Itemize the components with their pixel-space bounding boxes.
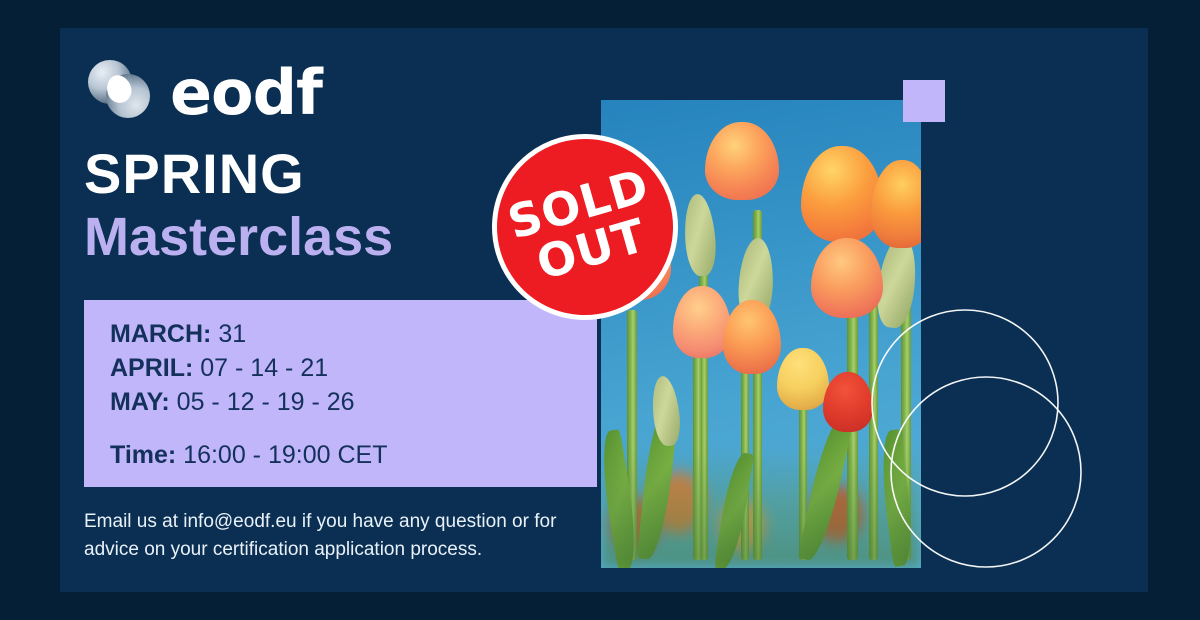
schedule-row: MAY: 05 - 12 - 19 - 26 <box>110 386 597 420</box>
schedule-row-value: 31 <box>211 320 246 348</box>
schedule-time-row: Time: 16:00 - 19:00 CET <box>110 439 597 473</box>
schedule-row: APRIL: 07 - 14 - 21 <box>110 352 597 386</box>
schedule-row-value: 07 - 14 - 21 <box>193 354 328 382</box>
schedule-row-label: MARCH: <box>110 320 211 348</box>
spacer <box>110 419 597 439</box>
schedule-box: MARCH: 31 APRIL: 07 - 14 - 21 MAY: 05 - … <box>84 300 597 487</box>
photo-foreground-blur <box>601 448 921 568</box>
schedule-row-label: MAY: <box>110 388 170 416</box>
poster-canvas: eodf SPRING Masterclass <box>0 0 1200 620</box>
title-line-spring: SPRING <box>84 146 393 202</box>
accent-square <box>903 80 945 122</box>
poster-inner-panel: eodf SPRING Masterclass <box>60 28 1148 592</box>
time-value: 16:00 - 19:00 CET <box>176 441 387 469</box>
brand-logo[interactable]: eodf <box>88 58 322 128</box>
overlapping-circles-logo-icon <box>88 60 154 126</box>
schedule-row: MARCH: 31 <box>110 318 597 352</box>
time-label: Time: <box>110 441 176 469</box>
schedule-row-value: 05 - 12 - 19 - 26 <box>170 388 355 416</box>
schedule-row-label: APRIL: <box>110 354 193 382</box>
contact-note: Email us at info@eodf.eu if you have any… <box>84 508 604 563</box>
brand-wordmark: eodf <box>170 62 322 124</box>
page-title: SPRING Masterclass <box>84 146 393 264</box>
title-line-masterclass: Masterclass <box>84 210 393 264</box>
